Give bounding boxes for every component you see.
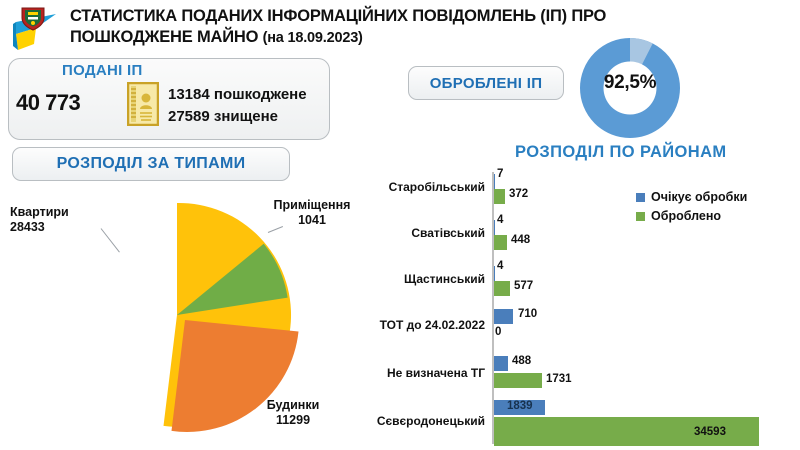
bar-value-processed: 372 bbox=[509, 188, 528, 200]
bar-value-pending: 4 bbox=[497, 214, 503, 226]
pie-label-houses-name: Будинки bbox=[248, 398, 338, 413]
bar-pending[interactable] bbox=[494, 174, 495, 189]
bar-pending[interactable] bbox=[494, 220, 495, 235]
pie-label-premises-value: 1041 bbox=[262, 213, 362, 228]
distribution-by-types-badge[interactable]: РОЗПОДІЛ ЗА ТИПАМИ bbox=[12, 147, 290, 181]
bar-category-label: Не визначена ТГ bbox=[355, 366, 485, 380]
pie-label-premises-name: Приміщення bbox=[262, 198, 362, 213]
bar-pending[interactable] bbox=[494, 309, 513, 324]
bar-category-label: Щастинський bbox=[355, 272, 485, 286]
table-row: Не визначена ТГ 488 1731 bbox=[355, 352, 800, 398]
title-line-1: СТАТИСТИКА ПОДАНИХ ІНФОРМАЦІЙНИХ ПОВІДОМ… bbox=[70, 7, 606, 25]
bar-processed[interactable] bbox=[494, 373, 542, 388]
bar-value-processed: 1731 bbox=[546, 373, 572, 385]
submitted-total-value: 40 773 bbox=[16, 90, 126, 116]
bar-category-label: Сватівський bbox=[355, 226, 485, 240]
table-row: Сєвєродонецький 1839 34593 bbox=[355, 398, 800, 446]
table-row: ТОТ до 24.02.2022 710 0 bbox=[355, 306, 800, 352]
bar-value-processed: 34593 bbox=[694, 426, 726, 438]
pie-label-apartments-value: 28433 bbox=[10, 220, 102, 235]
table-row: Щастинський 4 577 bbox=[355, 260, 800, 306]
bar-value-pending: 1839 bbox=[507, 400, 533, 412]
pie-label-houses: Будинки 11299 bbox=[248, 398, 338, 428]
title-line-2: ПОШКОДЖЕНЕ МАЙНО bbox=[70, 28, 258, 46]
bar-value-pending: 7 bbox=[497, 168, 503, 180]
pie-label-premises: Приміщення 1041 bbox=[262, 198, 362, 228]
legend-swatch-processed bbox=[636, 212, 645, 221]
legend-item-pending[interactable]: Очікує обробки bbox=[636, 190, 747, 204]
luhansk-oblast-administration-logo bbox=[6, 4, 64, 56]
legend-swatch-pending bbox=[636, 193, 645, 202]
bar-value-processed: 577 bbox=[514, 280, 533, 292]
legend-label-processed: Оброблено bbox=[651, 209, 721, 223]
districts-section-heading: РОЗПОДІЛ ПО РАЙОНАМ bbox=[515, 143, 727, 162]
submitted-breakdown: 13184 пошкоджене 27589 знищене bbox=[168, 84, 328, 128]
processed-reports-badge[interactable]: ОБРОБЛЕНІ ІП bbox=[408, 66, 564, 100]
bar-value-processed: 0 bbox=[495, 326, 501, 338]
submitted-damaged-value: 13184 пошкоджене bbox=[168, 84, 328, 106]
bar-processed[interactable] bbox=[494, 281, 510, 296]
bar-value-pending: 488 bbox=[512, 355, 531, 367]
bar-pending[interactable] bbox=[494, 356, 508, 371]
bar-category-label: ТОТ до 24.02.2022 bbox=[355, 318, 485, 332]
bar-chart-legend: Очікує обробки Оброблено bbox=[636, 190, 747, 228]
pie-label-apartments: Квартири 28433 bbox=[10, 205, 102, 235]
bar-category-label: Старобільський bbox=[355, 180, 485, 194]
submitted-destroyed-value: 27589 знищене bbox=[168, 106, 328, 128]
bar-category-label: Сєвєродонецький bbox=[355, 414, 485, 428]
infographic-root: СТАТИСТИКА ПОДАНИХ ІНФОРМАЦІЙНИХ ПОВІДОМ… bbox=[0, 0, 800, 450]
submitted-reports-label: ПОДАНІ ІП bbox=[62, 62, 222, 79]
bar-processed[interactable] bbox=[494, 189, 505, 204]
title-date: (на 18.09.2023) bbox=[263, 30, 363, 46]
legend-label-pending: Очікує обробки bbox=[651, 190, 747, 204]
pie-label-houses-value: 11299 bbox=[248, 413, 338, 428]
bar-processed[interactable] bbox=[494, 235, 507, 250]
bar-pending[interactable] bbox=[494, 266, 495, 281]
pie-label-apartments-name: Квартири bbox=[10, 205, 102, 220]
bar-value-processed: 448 bbox=[511, 234, 530, 246]
bar-value-pending: 710 bbox=[518, 308, 537, 320]
processed-percent-value: 92,5% bbox=[578, 72, 682, 94]
distribution-by-types-label: РОЗПОДІЛ ЗА ТИПАМИ bbox=[57, 155, 246, 173]
legend-item-processed[interactable]: Оброблено bbox=[636, 209, 747, 223]
bar-value-pending: 4 bbox=[497, 260, 503, 272]
processed-reports-label: ОБРОБЛЕНІ ІП bbox=[430, 75, 543, 92]
document-card-icon bbox=[127, 82, 159, 126]
